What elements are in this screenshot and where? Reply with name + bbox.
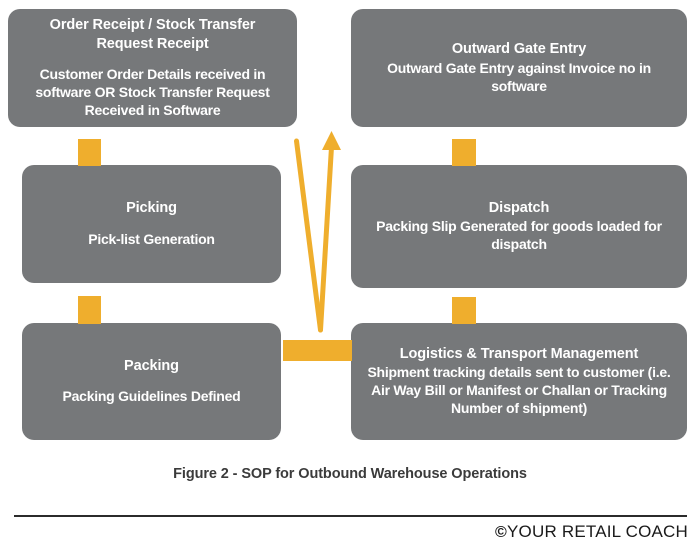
process-node-packing: Packing Packing Guidelines Defined — [22, 323, 281, 440]
copyright-icon: © — [495, 524, 507, 541]
node-title: Picking — [126, 199, 177, 218]
connector-order-receipt-to-picking — [78, 139, 101, 166]
node-title: Packing — [124, 357, 179, 376]
return-arrow-icon — [282, 125, 352, 350]
process-node-picking: Picking Pick-list Generation — [22, 165, 281, 283]
node-description: Pick-list Generation — [88, 231, 214, 249]
connector-picking-to-packing — [78, 296, 101, 324]
brand-name: YOUR RETAIL COACH — [507, 522, 688, 541]
process-node-order-receipt: Order Receipt / Stock Transfer Request R… — [8, 9, 297, 127]
process-node-outward-gate-entry: Outward Gate Entry Outward Gate Entry ag… — [351, 9, 687, 127]
footer-credit: ©YOUR RETAIL COACH — [495, 522, 688, 542]
node-title: Logistics & Transport Management — [400, 345, 639, 364]
footer-divider — [14, 515, 687, 517]
process-node-dispatch: Dispatch Packing Slip Generated for good… — [351, 165, 687, 288]
connector-outward-gate-to-dispatch — [452, 139, 476, 166]
node-description: Packing Guidelines Defined — [63, 388, 241, 406]
node-description: Outward Gate Entry against Invoice no in… — [363, 60, 675, 96]
node-title: Order Receipt / Stock Transfer Request R… — [20, 16, 285, 53]
figure-caption: Figure 2 - SOP for Outbound Warehouse Op… — [0, 466, 700, 482]
figure-canvas: Order Receipt / Stock Transfer Request R… — [0, 0, 700, 547]
node-title: Dispatch — [489, 199, 549, 218]
connector-dispatch-to-logistics — [452, 297, 476, 324]
node-title: Outward Gate Entry — [452, 40, 586, 59]
process-node-logistics-transport: Logistics & Transport Management Shipmen… — [351, 323, 687, 440]
node-description: Packing Slip Generated for goods loaded … — [363, 218, 675, 254]
node-description: Customer Order Details received in softw… — [20, 66, 285, 120]
node-description: Shipment tracking details sent to custom… — [363, 364, 675, 418]
